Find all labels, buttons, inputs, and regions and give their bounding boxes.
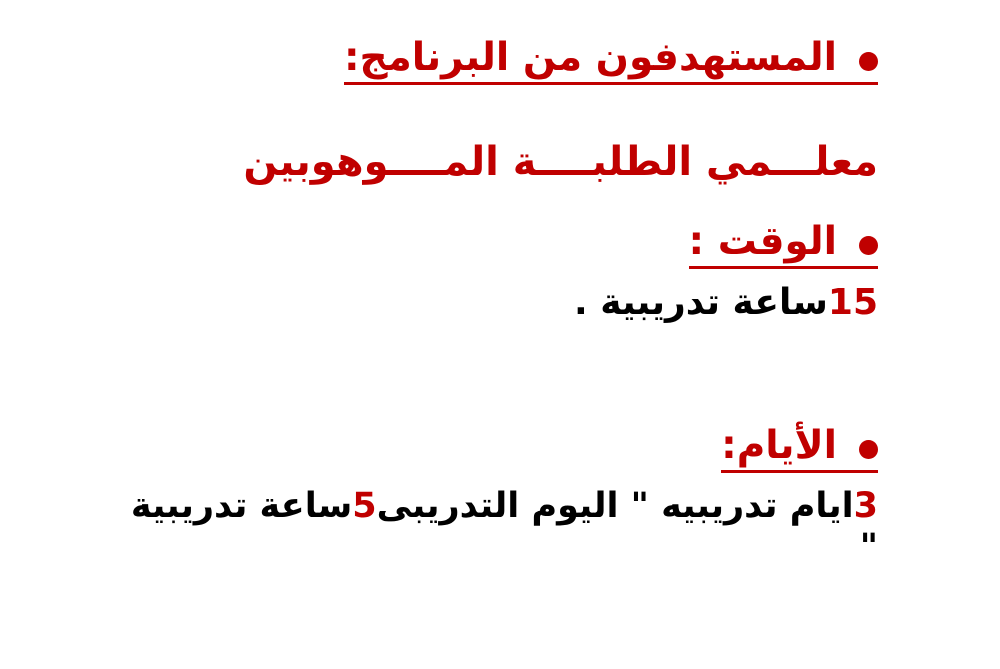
filled-circle-bullet-icon: [859, 236, 878, 255]
slide-canvas: المستهدفون من البرنامج: معلـــمي الطلبــ…: [0, 0, 1000, 669]
time-hours-value: 15: [828, 282, 878, 323]
heading-time-label: الوقت :: [689, 222, 837, 269]
days-count-value: 3: [854, 486, 878, 526]
heading-target-audience: المستهدفون من البرنامج:: [344, 38, 878, 85]
body-time: 15ساعة تدريبية .: [118, 282, 878, 324]
time-hours-unit: ساعة تدريبية .: [574, 282, 828, 323]
heading-days: الأيام:: [721, 426, 878, 473]
body-target-audience: معلـــمي الطلبــــة المــــوهوبين: [178, 140, 878, 184]
filled-circle-bullet-icon: [859, 440, 878, 459]
filled-circle-bullet-icon: [859, 52, 878, 71]
days-description-part-one: ايام تدريبيه " اليوم التدريبى: [377, 486, 854, 526]
days-hours-per-day-value: 5: [352, 486, 376, 526]
heading-days-label: الأيام:: [721, 426, 837, 473]
heading-time: الوقت :: [689, 222, 878, 269]
body-days: 3ايام تدريبيه " اليوم التدريبى5ساعة تدري…: [118, 486, 878, 569]
heading-target-audience-label: المستهدفون من البرنامج:: [344, 38, 837, 85]
